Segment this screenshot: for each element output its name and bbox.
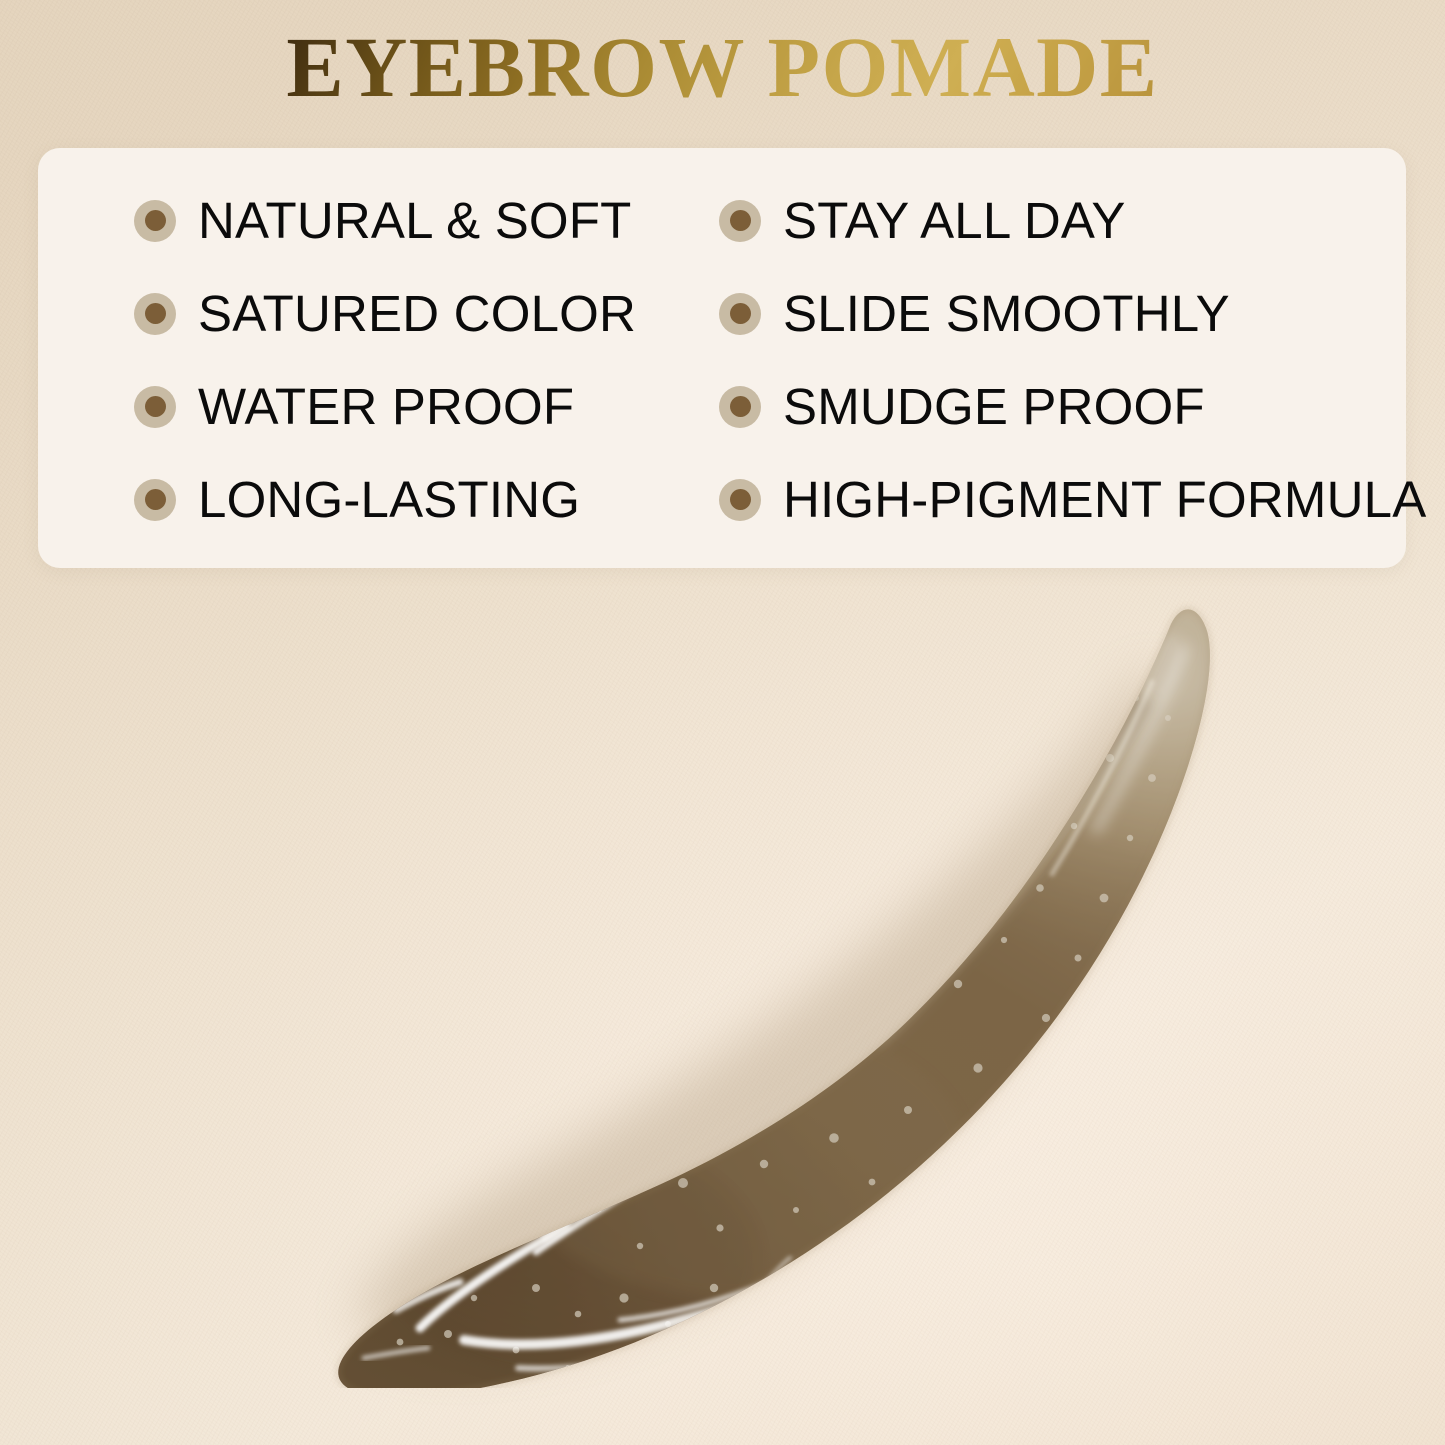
feature-item-stay-all-day: STAY ALL DAY	[719, 195, 1426, 246]
feature-label: HIGH-PIGMENT FORMULA	[783, 474, 1426, 525]
feature-label: WATER PROOF	[198, 381, 574, 432]
feature-item-high-pigment-formula: HIGH-PIGMENT FORMULA	[719, 474, 1426, 525]
feature-label: NATURAL & SOFT	[198, 195, 632, 246]
feature-label: LONG-LASTING	[198, 474, 580, 525]
bullet-dot-icon	[134, 200, 176, 242]
feature-item-natural-soft: NATURAL & SOFT	[134, 195, 719, 246]
product-swatch-stage	[0, 560, 1445, 1445]
feature-label: SATURED COLOR	[198, 288, 636, 339]
bullet-dot-icon	[134, 479, 176, 521]
feature-item-water-proof: WATER PROOF	[134, 381, 719, 432]
bullet-dot-icon	[719, 386, 761, 428]
feature-item-satured-color: SATURED COLOR	[134, 288, 719, 339]
feature-label: STAY ALL DAY	[783, 195, 1126, 246]
title-container: EYEBROW POMADE	[0, 22, 1445, 112]
bullet-dot-icon	[719, 293, 761, 335]
smear-body	[268, 598, 1298, 1388]
product-feature-poster: EYEBROW POMADE NATURAL & SOFT STAY ALL D…	[0, 0, 1445, 1445]
bullet-dot-icon	[134, 386, 176, 428]
feature-item-long-lasting: LONG-LASTING	[134, 474, 719, 525]
bullet-dot-icon	[719, 479, 761, 521]
feature-label: SLIDE SMOOTHLY	[783, 288, 1230, 339]
eyebrow-pomade-smear	[268, 598, 1298, 1388]
bullet-dot-icon	[719, 200, 761, 242]
bullet-dot-icon	[134, 293, 176, 335]
page-title: EYEBROW POMADE	[286, 22, 1158, 112]
feature-label: SMUDGE PROOF	[783, 381, 1205, 432]
features-grid: NATURAL & SOFT STAY ALL DAY SATURED COLO…	[38, 148, 1406, 568]
feature-item-smudge-proof: SMUDGE PROOF	[719, 381, 1426, 432]
features-card: NATURAL & SOFT STAY ALL DAY SATURED COLO…	[38, 148, 1406, 568]
feature-item-slide-smoothly: SLIDE SMOOTHLY	[719, 288, 1426, 339]
